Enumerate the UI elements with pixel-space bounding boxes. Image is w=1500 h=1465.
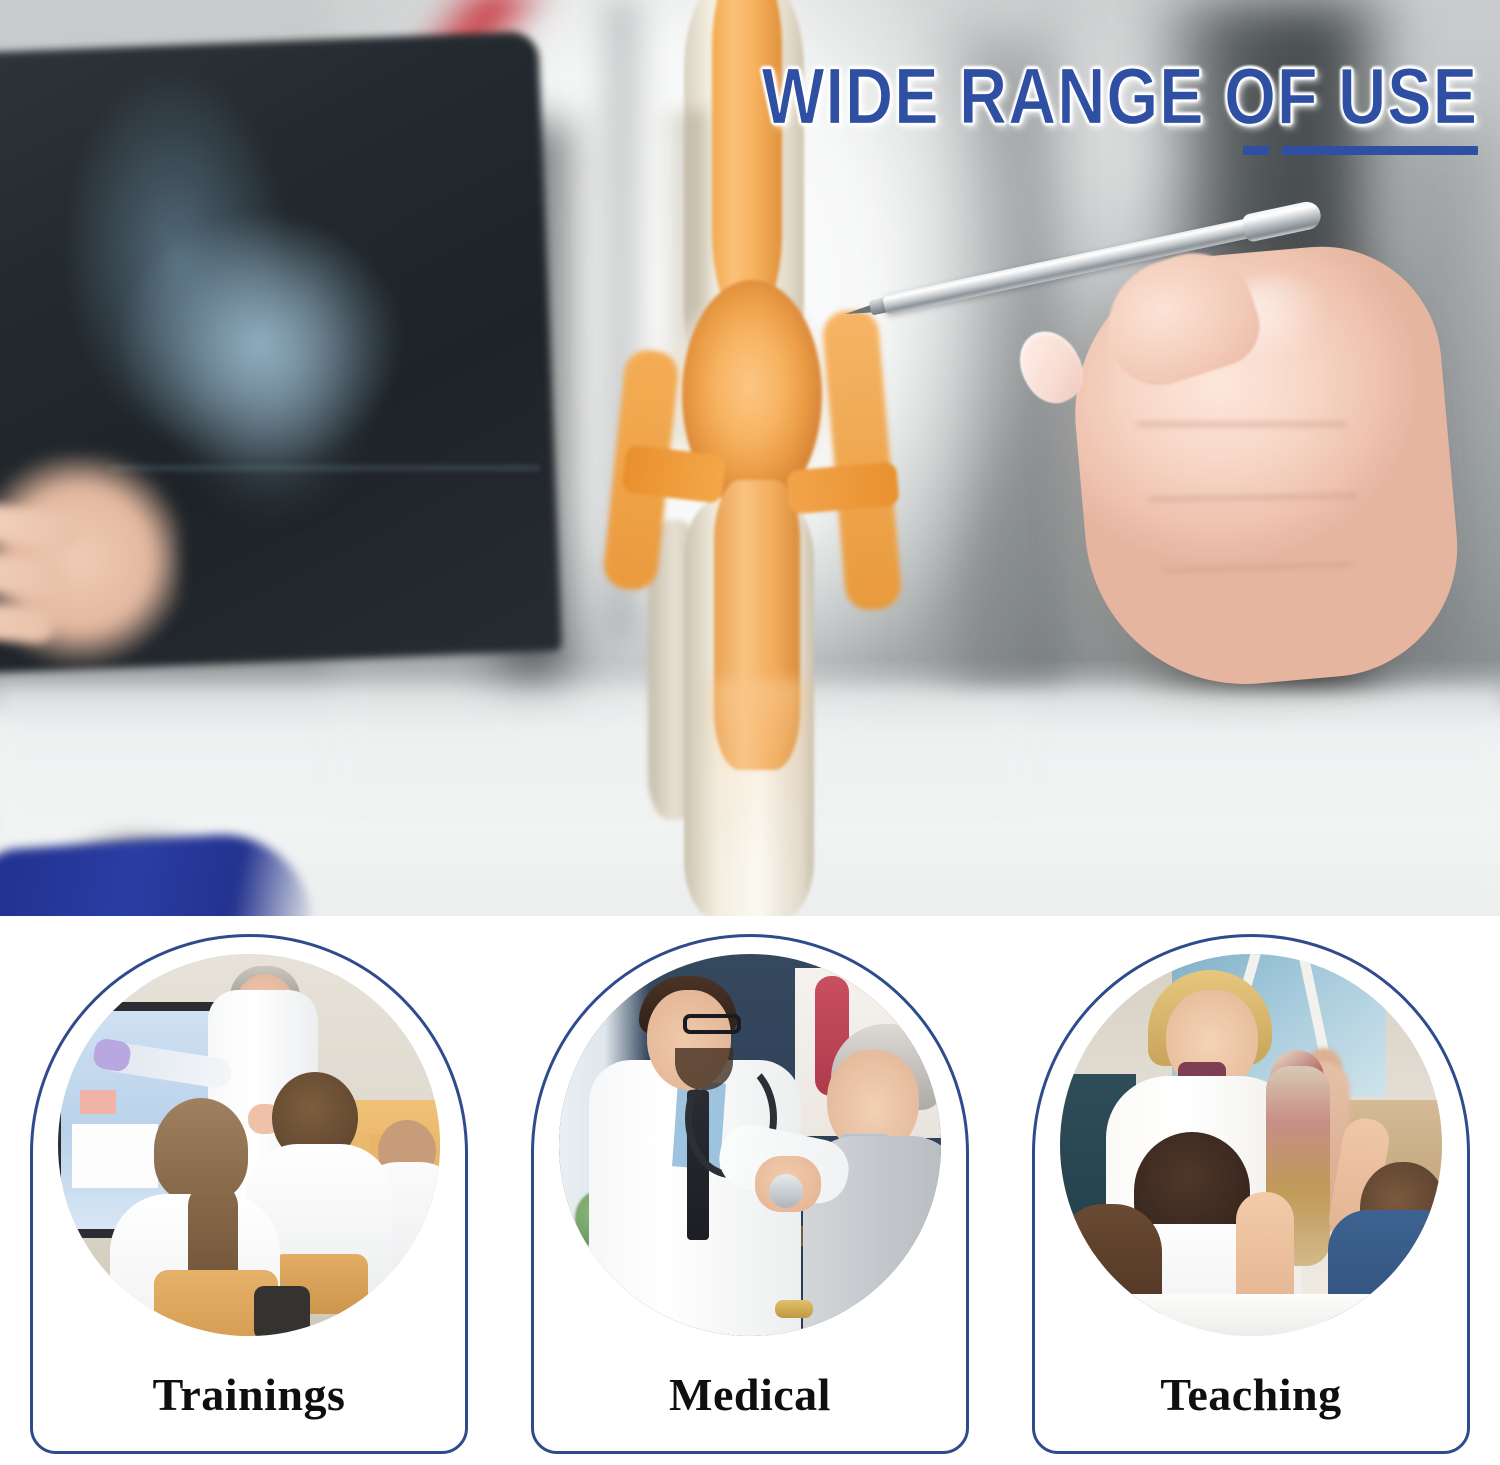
headline-underline	[1243, 146, 1478, 155]
product-marketing-image: WIDE RANGE OF USE	[0, 0, 1500, 1465]
patellar-ligament-fade	[714, 680, 804, 860]
finger-crease-3	[1163, 562, 1353, 574]
page-title: WIDE RANGE OF USE	[762, 56, 1478, 136]
use-case-card-trainings[interactable]: Trainings	[30, 934, 468, 1454]
underline-bar	[1282, 146, 1478, 155]
card-photo-medical	[559, 954, 941, 1336]
underline-dash	[1243, 146, 1269, 155]
headline-block: WIDE RANGE OF USE	[747, 56, 1478, 124]
quadriceps-tendon	[712, 0, 782, 320]
eyeglasses-icon	[683, 1014, 741, 1034]
classroom-desk	[1060, 1294, 1442, 1336]
hero-photo: WIDE RANGE OF USE	[0, 0, 1500, 916]
card-photo-teaching	[1060, 954, 1442, 1336]
patient-watch	[775, 1300, 813, 1318]
slide-content	[72, 1124, 158, 1188]
chair-shadow	[254, 1286, 310, 1336]
use-case-card-medical[interactable]: Medical	[531, 934, 969, 1454]
use-case-cards: Trainings	[0, 916, 1500, 1465]
stethoscope-chestpiece	[769, 1174, 803, 1208]
card-label-medical: Medical	[534, 1368, 966, 1421]
finger-crease-2	[1149, 493, 1359, 502]
card-label-trainings: Trainings	[33, 1368, 465, 1421]
collateral-ligament-right	[821, 308, 903, 612]
use-case-card-teaching[interactable]: Teaching	[1032, 934, 1470, 1454]
card-label-teaching: Teaching	[1035, 1368, 1467, 1421]
finger-crease-1	[1136, 422, 1346, 427]
slide-graphic	[80, 1090, 116, 1114]
card-photo-trainings	[58, 954, 440, 1336]
